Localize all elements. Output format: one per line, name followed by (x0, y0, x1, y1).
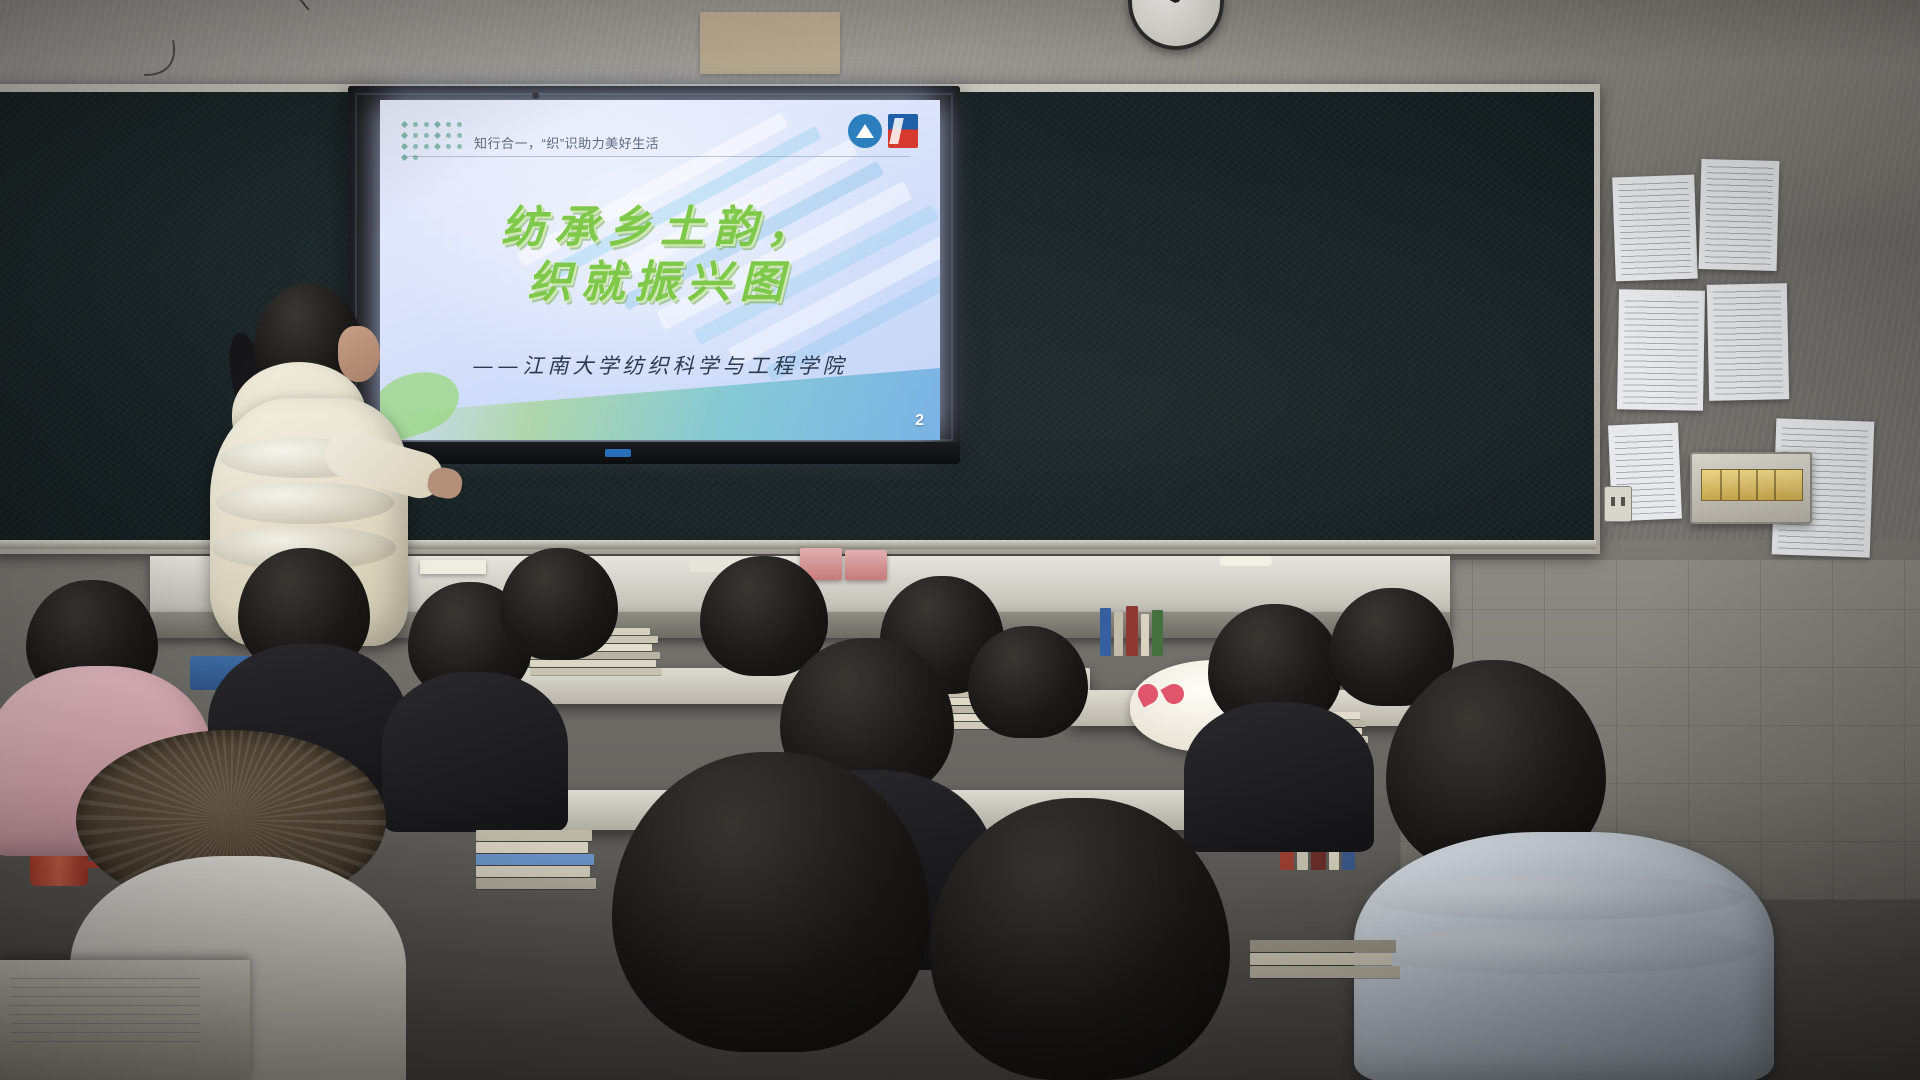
silver-coat-puff-1 (1366, 874, 1746, 920)
clock-hour-hand (1174, 0, 1192, 3)
slide-logos (848, 114, 918, 148)
slide-title-line-1: 纺承乡土韵， (380, 200, 940, 255)
presenter-coat-puff-2 (216, 482, 394, 524)
display-camera-icon (532, 92, 539, 99)
clock-minute-hand (1146, 0, 1177, 3)
wall-notice-1 (1612, 175, 1698, 282)
student-head (612, 752, 930, 1052)
front-book-stack-2 (1250, 940, 1400, 978)
wall-notice-4 (1707, 283, 1789, 401)
upright-book-row[interactable] (1100, 604, 1163, 656)
student-head (968, 626, 1088, 738)
fuse-box-panel[interactable] (1690, 452, 1812, 524)
university-emblem-icon (848, 114, 882, 148)
presenter-hand (426, 465, 465, 500)
display-power-led-icon (605, 449, 631, 457)
department-flag-logo-icon (888, 114, 918, 148)
power-socket[interactable] (1604, 486, 1632, 522)
slide-header-rule (402, 156, 910, 157)
slide-page-number: 2 (915, 412, 924, 430)
student-dark-coat (1184, 702, 1374, 852)
plush-bow-icon (1138, 684, 1184, 704)
ledge-chalk (1220, 556, 1272, 566)
silver-coat-puff-2 (1362, 926, 1758, 974)
wall-notice-3 (1617, 289, 1705, 410)
red-box-2 (845, 550, 887, 580)
student-head (500, 548, 618, 660)
classroom-scene: 7 6 5 (0, 0, 1920, 1080)
front-desk-paper-lines (10, 972, 200, 1042)
fuse-box-window (1701, 469, 1802, 501)
student-dark-coat (382, 672, 568, 832)
wall-notice-2 (1699, 159, 1780, 271)
student-head (930, 798, 1230, 1080)
front-book-stack (476, 830, 596, 889)
presenter-face (338, 326, 380, 382)
wall-tape-patch (700, 12, 840, 74)
slide-header-text: 知行合一，“织”识助力美好生活 (474, 133, 659, 152)
